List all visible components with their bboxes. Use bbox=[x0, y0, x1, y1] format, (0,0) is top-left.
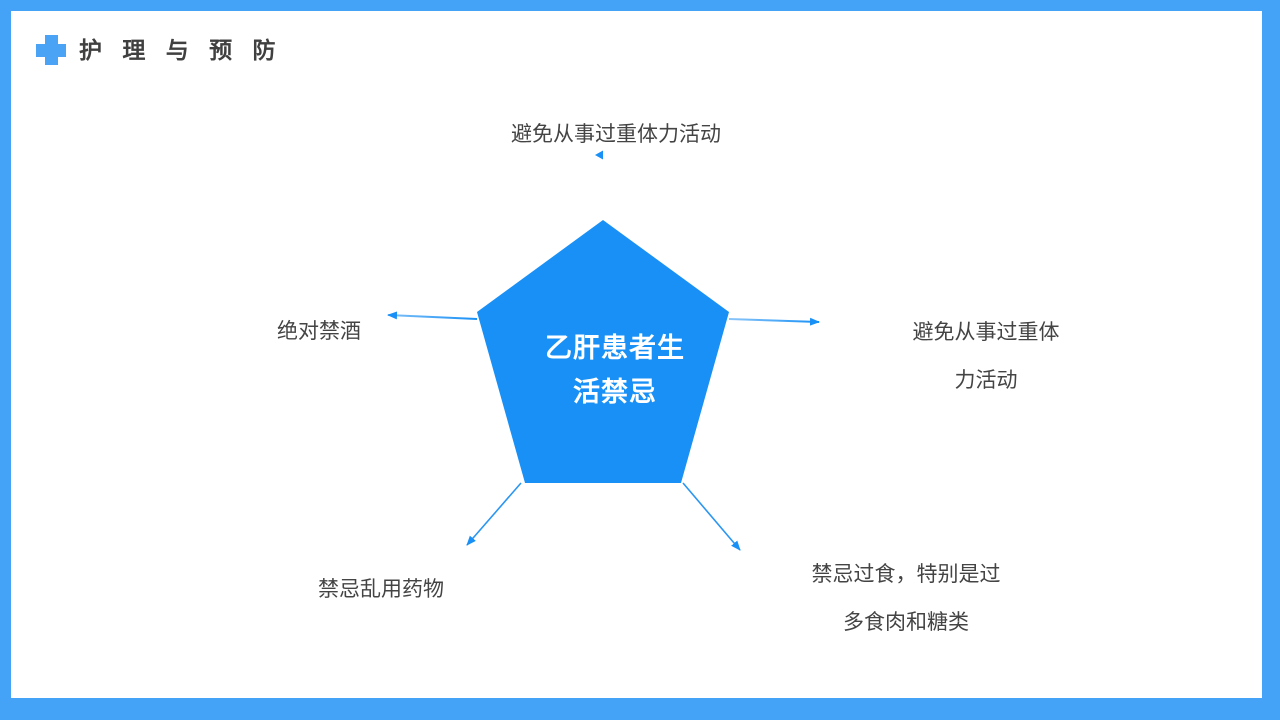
arrow-down-left bbox=[467, 483, 521, 545]
node-label-right: 避免从事过重体 力活动 bbox=[866, 309, 1106, 405]
node-label-top: 避免从事过重体力活动 bbox=[371, 111, 861, 159]
node-label-bottom-left: 禁忌乱用药物 bbox=[231, 566, 531, 614]
arrow-left bbox=[388, 315, 477, 319]
arrow-down-right bbox=[683, 483, 740, 550]
center-pentagon-label: 乙肝患者生 活禁忌 bbox=[505, 326, 725, 414]
arrow-right bbox=[729, 319, 819, 322]
node-label-bottom-right: 禁忌过食，特别是过 多食肉和糖类 bbox=[771, 551, 1041, 647]
slide-frame: 护 理 与 预 防 bbox=[0, 0, 1280, 720]
pentagon-diagram: 乙肝患者生 活禁忌 避免从事过重体力活动 避免从事过重体 力活动 绝对禁酒 禁忌… bbox=[11, 11, 1262, 698]
slide-canvas: 护 理 与 预 防 bbox=[11, 11, 1262, 698]
node-label-left: 绝对禁酒 bbox=[161, 308, 361, 356]
